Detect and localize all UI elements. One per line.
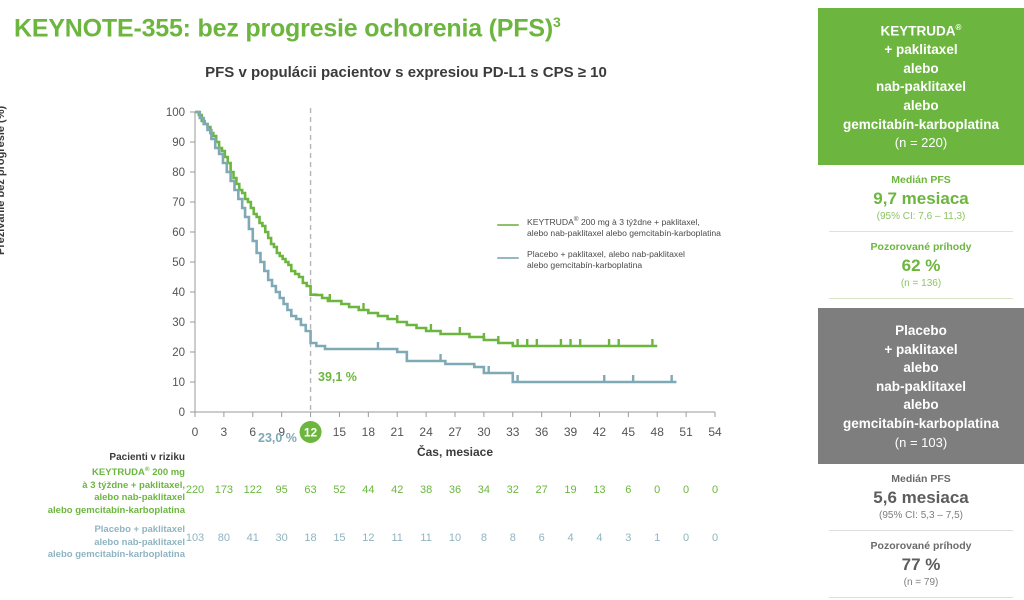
risk-count-cell: 4 <box>567 532 573 544</box>
arm-placebo-line3: nab-paklitaxel <box>876 379 966 394</box>
legend-item-placebo: Placebo + paklitaxel, alebo nab-paklitax… <box>497 249 807 272</box>
page-title-superscript: 3 <box>553 14 561 30</box>
x-tick-label: 33 <box>506 425 520 439</box>
risk-count-cell: 63 <box>304 484 316 496</box>
legend-label-placebo: Placebo + paklitaxel, alebo nab-paklitax… <box>527 249 685 272</box>
legend-label-keytruda: KEYTRUDA® 200 mg à 3 týždne + paklitaxel… <box>527 216 721 240</box>
x-tick-label: 39 <box>564 425 578 439</box>
risk-count-cell: 15 <box>333 532 345 544</box>
legend-keytruda-line1-post: 200 mg à 3 týždne + paklitaxel, <box>579 217 700 227</box>
plot-area: Prežívanie bez progresie (%) 01020304050… <box>0 100 812 450</box>
y-tick-label: 70 <box>172 197 185 209</box>
stat-value-events-placebo: 77 % <box>824 555 1018 575</box>
risk-count-cell: 19 <box>564 484 576 496</box>
risk-row-label-placebo: Placebo + paklitaxel alebo nab-paklitaxe… <box>0 524 185 562</box>
risk-count-cell: 0 <box>683 532 689 544</box>
y-tick-label: 30 <box>172 317 185 329</box>
risk-count-cell: 6 <box>625 484 631 496</box>
risk-count-cell: 8 <box>481 532 487 544</box>
risk-keytruda-line1-pre: KEYTRUDA <box>92 467 145 478</box>
chart-panel: KEYNOTE-355: bez progresie ochorenia (PF… <box>0 0 812 600</box>
risk-placebo-line3: alebo gemcitabín-karboplatina <box>48 549 185 560</box>
x-tick-label: 27 <box>448 425 462 439</box>
arm-placebo-line4: alebo <box>903 397 938 412</box>
treatment-arms-sidebar: KEYTRUDA® + paklitaxel alebo nab-paklita… <box>818 0 1024 600</box>
divider-placebo-2 <box>829 597 1013 598</box>
annotation-placebo-pfs: 23,0 % <box>258 431 297 445</box>
x-tick-label-highlighted: 12 <box>304 426 318 440</box>
x-tick-label: 54 <box>708 425 722 439</box>
x-tick-label: 42 <box>593 425 607 439</box>
legend-swatch-keytruda <box>497 224 519 226</box>
risk-count-cell: 3 <box>625 532 631 544</box>
risk-count-cell: 18 <box>304 532 316 544</box>
risk-counts-keytruda: 2201731229563524442383634322719136000 <box>195 484 715 500</box>
stat-median-pfs-placebo: Medián PFS 5,6 mesiaca (95% CI: 5,3 – 7,… <box>818 464 1024 530</box>
legend-item-keytruda: KEYTRUDA® 200 mg à 3 týždne + paklitaxel… <box>497 216 807 240</box>
y-tick-label: 40 <box>172 287 185 299</box>
stat-label-events-keytruda: Pozorované príhody <box>824 241 1018 253</box>
x-tick-label: 36 <box>535 425 549 439</box>
arm-placebo-n: (n = 103) <box>895 435 947 450</box>
risk-count-cell: 0 <box>683 484 689 496</box>
x-tick-label: 6 <box>249 425 256 439</box>
stat-ci-median-placebo: (95% CI: 5,3 – 7,5) <box>824 510 1018 521</box>
risk-count-cell: 95 <box>276 484 288 496</box>
risk-count-cell: 8 <box>510 532 516 544</box>
legend-keytruda-line1-pre: KEYTRUDA <box>527 217 574 227</box>
risk-count-cell: 80 <box>218 532 230 544</box>
divider-keytruda-2 <box>829 298 1013 299</box>
risk-count-cell: 220 <box>186 484 204 496</box>
risk-count-cell: 4 <box>596 532 602 544</box>
y-tick-label: 20 <box>172 347 185 359</box>
risk-count-cell: 0 <box>712 484 718 496</box>
risk-keytruda-line2: à 3 týždne + paklitaxel, <box>82 480 185 491</box>
x-tick-label: 18 <box>362 425 376 439</box>
legend-swatch-placebo <box>497 257 519 259</box>
risk-count-cell: 42 <box>391 484 403 496</box>
risk-count-cell: 1 <box>654 532 660 544</box>
stat-label-events-placebo: Pozorované príhody <box>824 540 1018 552</box>
x-tick-label: 30 <box>477 425 491 439</box>
arm-keytruda-line2: alebo <box>903 61 938 76</box>
stat-events-placebo: Pozorované príhody 77 % (n = 79) <box>818 531 1024 597</box>
arm-keytruda-line4: alebo <box>903 98 938 113</box>
arm-header-placebo: Placebo + paklitaxel alebo nab-paklitaxe… <box>818 308 1024 464</box>
chart-subtitle: PFS v populácii pacientov s expresiou PD… <box>0 64 812 81</box>
risk-count-cell: 30 <box>276 532 288 544</box>
arm-keytruda-line3: nab-paklitaxel <box>876 79 966 94</box>
arm-keytruda-reg-icon: ® <box>956 23 962 32</box>
stat-ci-median-keytruda: (95% CI: 7,6 – 11,3) <box>824 211 1018 222</box>
x-tick-label: 24 <box>419 425 433 439</box>
risk-count-cell: 6 <box>539 532 545 544</box>
risk-keytruda-line1-post: 200 mg <box>150 467 185 478</box>
risk-keytruda-line3: alebo nab-paklitaxel <box>94 492 185 503</box>
arm-keytruda-line0: KEYTRUDA <box>881 24 956 39</box>
risk-count-cell: 44 <box>362 484 374 496</box>
arm-keytruda-n: (n = 220) <box>895 135 947 150</box>
page-title-text: KEYNOTE-355: bez progresie ochorenia (PF… <box>14 14 553 42</box>
x-tick-label: 51 <box>679 425 693 439</box>
arm-placebo-line2: alebo <box>903 360 938 375</box>
risk-count-cell: 41 <box>247 532 259 544</box>
stat-events-keytruda: Pozorované príhody 62 % (n = 136) <box>818 232 1024 298</box>
risk-count-cell: 0 <box>712 532 718 544</box>
arm-placebo-line5: gemcitabín-karboplatina <box>843 416 999 431</box>
stat-n-events-placebo: (n = 79) <box>824 577 1018 588</box>
arm-keytruda-line1: + paklitaxel <box>884 42 957 57</box>
x-tick-label: 3 <box>221 425 228 439</box>
chart-legend: KEYTRUDA® 200 mg à 3 týždne + paklitaxel… <box>497 216 807 281</box>
stat-value-events-keytruda: 62 % <box>824 256 1018 276</box>
x-tick-label: 48 <box>651 425 665 439</box>
risk-counts-placebo: 103804130181512111110886443100 <box>195 532 715 548</box>
risk-row-label-keytruda: KEYTRUDA® 200 mg à 3 týždne + paklitaxel… <box>0 466 185 517</box>
risk-count-cell: 11 <box>392 532 403 544</box>
y-tick-label: 90 <box>172 137 185 149</box>
x-tick-label: 45 <box>622 425 636 439</box>
risk-count-cell: 103 <box>186 532 204 544</box>
risk-count-cell: 0 <box>654 484 660 496</box>
legend-keytruda-line2: alebo nab-paklitaxel alebo gemcitabín-ka… <box>527 228 721 238</box>
risk-count-cell: 13 <box>593 484 605 496</box>
risk-placebo-line1: Placebo + paklitaxel <box>94 524 185 535</box>
risk-placebo-line2: alebo nab-paklitaxel <box>94 537 185 548</box>
stat-n-events-keytruda: (n = 136) <box>824 278 1018 289</box>
annotation-keytruda-pfs: 39,1 % <box>318 370 357 384</box>
risk-count-cell: 52 <box>333 484 345 496</box>
y-tick-label: 60 <box>172 227 185 239</box>
arm-placebo-line0: Placebo <box>895 323 947 338</box>
arm-placebo-line1: + paklitaxel <box>884 342 957 357</box>
risk-count-cell: 122 <box>244 484 262 496</box>
arm-keytruda-line5: gemcitabín-karboplatina <box>843 117 999 132</box>
y-tick-label: 10 <box>172 377 185 389</box>
risk-count-cell: 12 <box>362 532 374 544</box>
stat-median-pfs-keytruda: Medián PFS 9,7 mesiaca (95% CI: 7,6 – 11… <box>818 165 1024 231</box>
risk-count-cell: 10 <box>449 532 461 544</box>
x-tick-label: 15 <box>333 425 347 439</box>
y-tick-label: 80 <box>172 167 185 179</box>
y-tick-label: 0 <box>179 407 185 419</box>
y-tick-label: 100 <box>166 107 185 119</box>
x-axis-label: Čas, mesiace <box>195 445 715 459</box>
stat-label-median-keytruda: Medián PFS <box>824 174 1018 186</box>
stat-value-median-placebo: 5,6 mesiaca <box>824 488 1018 508</box>
page-title: KEYNOTE-355: bez progresie ochorenia (PF… <box>14 14 561 43</box>
risk-count-cell: 27 <box>536 484 548 496</box>
risk-count-cell: 173 <box>215 484 233 496</box>
x-tick-label: 0 <box>192 425 199 439</box>
risk-keytruda-line4: alebo gemcitabín-karboplatina <box>48 505 185 516</box>
legend-placebo-line1: Placebo + paklitaxel, alebo nab-paklitax… <box>527 249 685 259</box>
risk-count-cell: 11 <box>420 532 431 544</box>
legend-placebo-line2: alebo gemcitabín-karboplatina <box>527 260 642 270</box>
arm-header-keytruda: KEYTRUDA® + paklitaxel alebo nab-paklita… <box>818 8 1024 165</box>
stat-label-median-placebo: Medián PFS <box>824 473 1018 485</box>
risk-table-title: Pacienti v riziku <box>0 452 185 463</box>
risk-count-cell: 34 <box>478 484 490 496</box>
stat-value-median-keytruda: 9,7 mesiaca <box>824 189 1018 209</box>
risk-count-cell: 36 <box>449 484 461 496</box>
risk-count-cell: 38 <box>420 484 432 496</box>
y-tick-label: 50 <box>172 257 185 269</box>
x-tick-label: 21 <box>391 425 405 439</box>
risk-count-cell: 32 <box>507 484 519 496</box>
